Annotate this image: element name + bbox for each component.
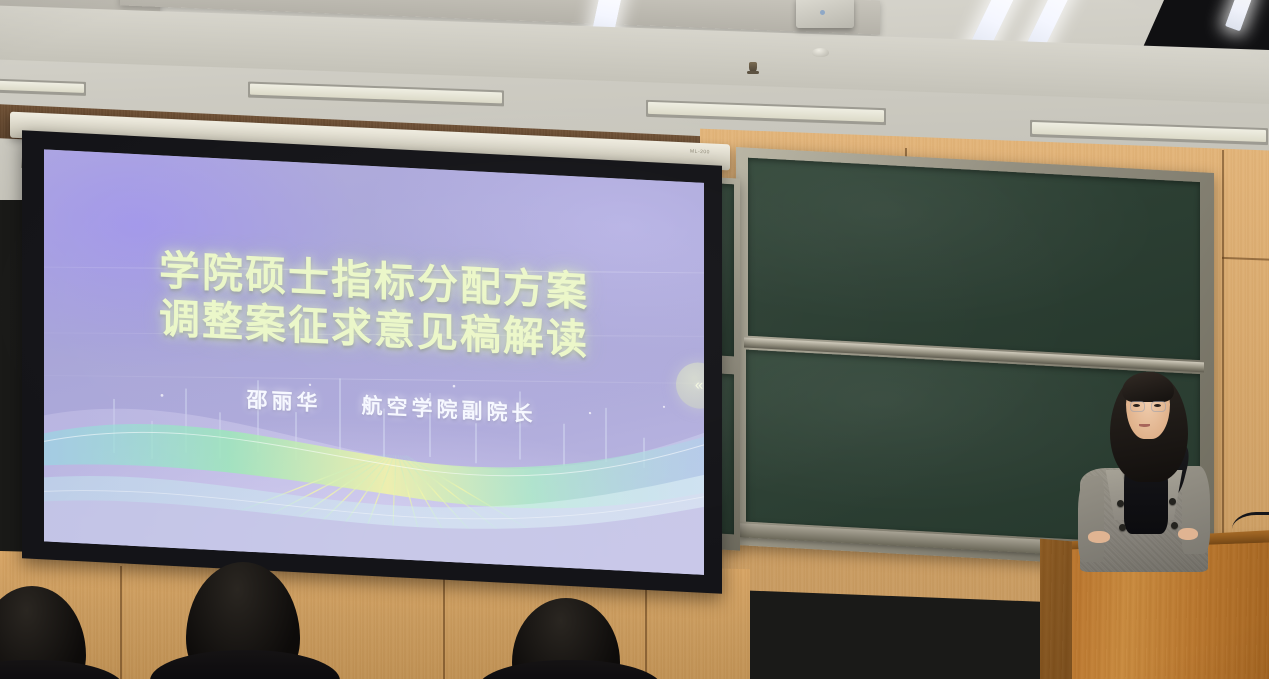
speaker-eye-right (1154, 404, 1161, 407)
speaker-left-arm (1078, 476, 1104, 562)
wall-wood-seam-right-2 (1222, 150, 1224, 570)
podium-left-side (1040, 539, 1072, 679)
speaker-hand-left (1088, 531, 1110, 543)
ceiling-light-recess-4 (1030, 120, 1268, 145)
sprinkler-head-icon (749, 62, 757, 73)
projection-screen-border: 学院硕士指标分配方案 调整案征求意见稿解读 邵丽华 航空学院副院长 « (22, 130, 722, 593)
speaker-blazer-button-2 (1169, 498, 1176, 505)
speaker-blazer-button-1 (1117, 500, 1124, 507)
ceiling-light-recess-1 (0, 78, 86, 96)
lecture-hall-photo: WARN ML-200 (0, 0, 1269, 679)
projector-mount (796, 0, 854, 28)
housing-model-code: ML-200 (690, 149, 710, 156)
wall-wood-lower-seam-1 (120, 566, 122, 679)
speaker-blazer-button-3 (1119, 524, 1126, 531)
speaker-right-arm (1182, 466, 1210, 554)
wall-wood-lower-seam-2 (443, 578, 445, 679)
chalkboard-panel-upper (748, 158, 1200, 360)
smoke-detector-icon (812, 48, 829, 57)
speaker-blazer-button-4 (1171, 522, 1178, 529)
projection-screen-surface: 学院硕士指标分配方案 调整案征求意见稿解读 邵丽华 航空学院副院长 « (44, 149, 704, 574)
slide-wave-graphic (44, 341, 704, 574)
speaker-mouth (1139, 424, 1150, 427)
ceiling-light-recess-2 (248, 82, 504, 107)
ceiling-light-recess-3 (646, 100, 886, 125)
speaker-hand-right (1178, 528, 1198, 540)
wall-wood-lower-seam-3 (645, 586, 647, 679)
speaker-eye-left (1133, 404, 1140, 407)
